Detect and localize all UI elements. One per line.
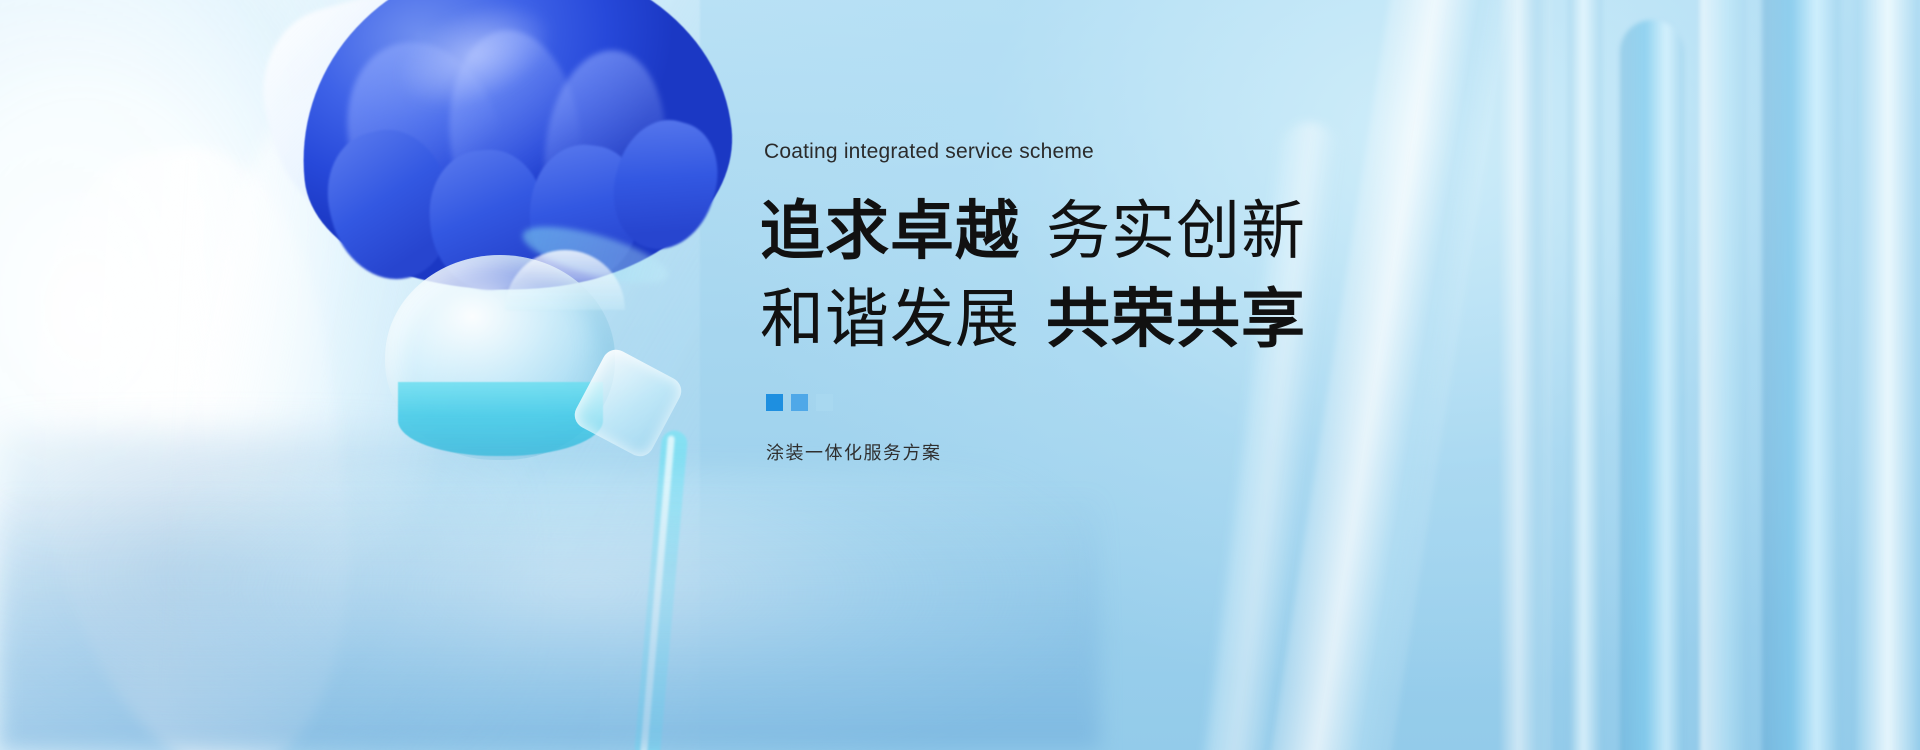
banner-text-block: Coating integrated service scheme 追求卓越务实… bbox=[760, 140, 1580, 465]
slide-indicator-3[interactable] bbox=[816, 394, 833, 411]
headline-line-2-bold: 共荣共享 bbox=[1046, 283, 1306, 355]
banner-eyebrow: Coating integrated service scheme bbox=[764, 140, 1580, 164]
headline-line-1-light: 务实创新 bbox=[1046, 195, 1306, 267]
headline-line-2: 和谐发展共荣共享 bbox=[760, 280, 1580, 358]
banner-caption: 涂装一体化服务方案 bbox=[766, 439, 1580, 465]
test-tube-5 bbox=[1762, 0, 1840, 750]
slide-indicator-1[interactable] bbox=[766, 394, 783, 411]
hero-banner: Coating integrated service scheme 追求卓越务实… bbox=[0, 0, 1920, 750]
flask-liquid bbox=[398, 382, 603, 456]
headline-line-2-light: 和谐发展 bbox=[760, 283, 1020, 355]
test-tube-6 bbox=[1856, 0, 1920, 750]
headline-line-1-bold: 追求卓越 bbox=[760, 195, 1020, 267]
banner-headline: 追求卓越务实创新 和谐发展共荣共享 bbox=[760, 192, 1580, 358]
slide-indicator-group[interactable] bbox=[766, 394, 1580, 411]
test-tube-4 bbox=[1700, 0, 1746, 750]
headline-line-1: 追求卓越务实创新 bbox=[760, 192, 1580, 270]
test-tube-3 bbox=[1620, 20, 1684, 750]
bottom-blue-tint bbox=[0, 490, 1100, 750]
slide-indicator-2[interactable] bbox=[791, 394, 808, 411]
